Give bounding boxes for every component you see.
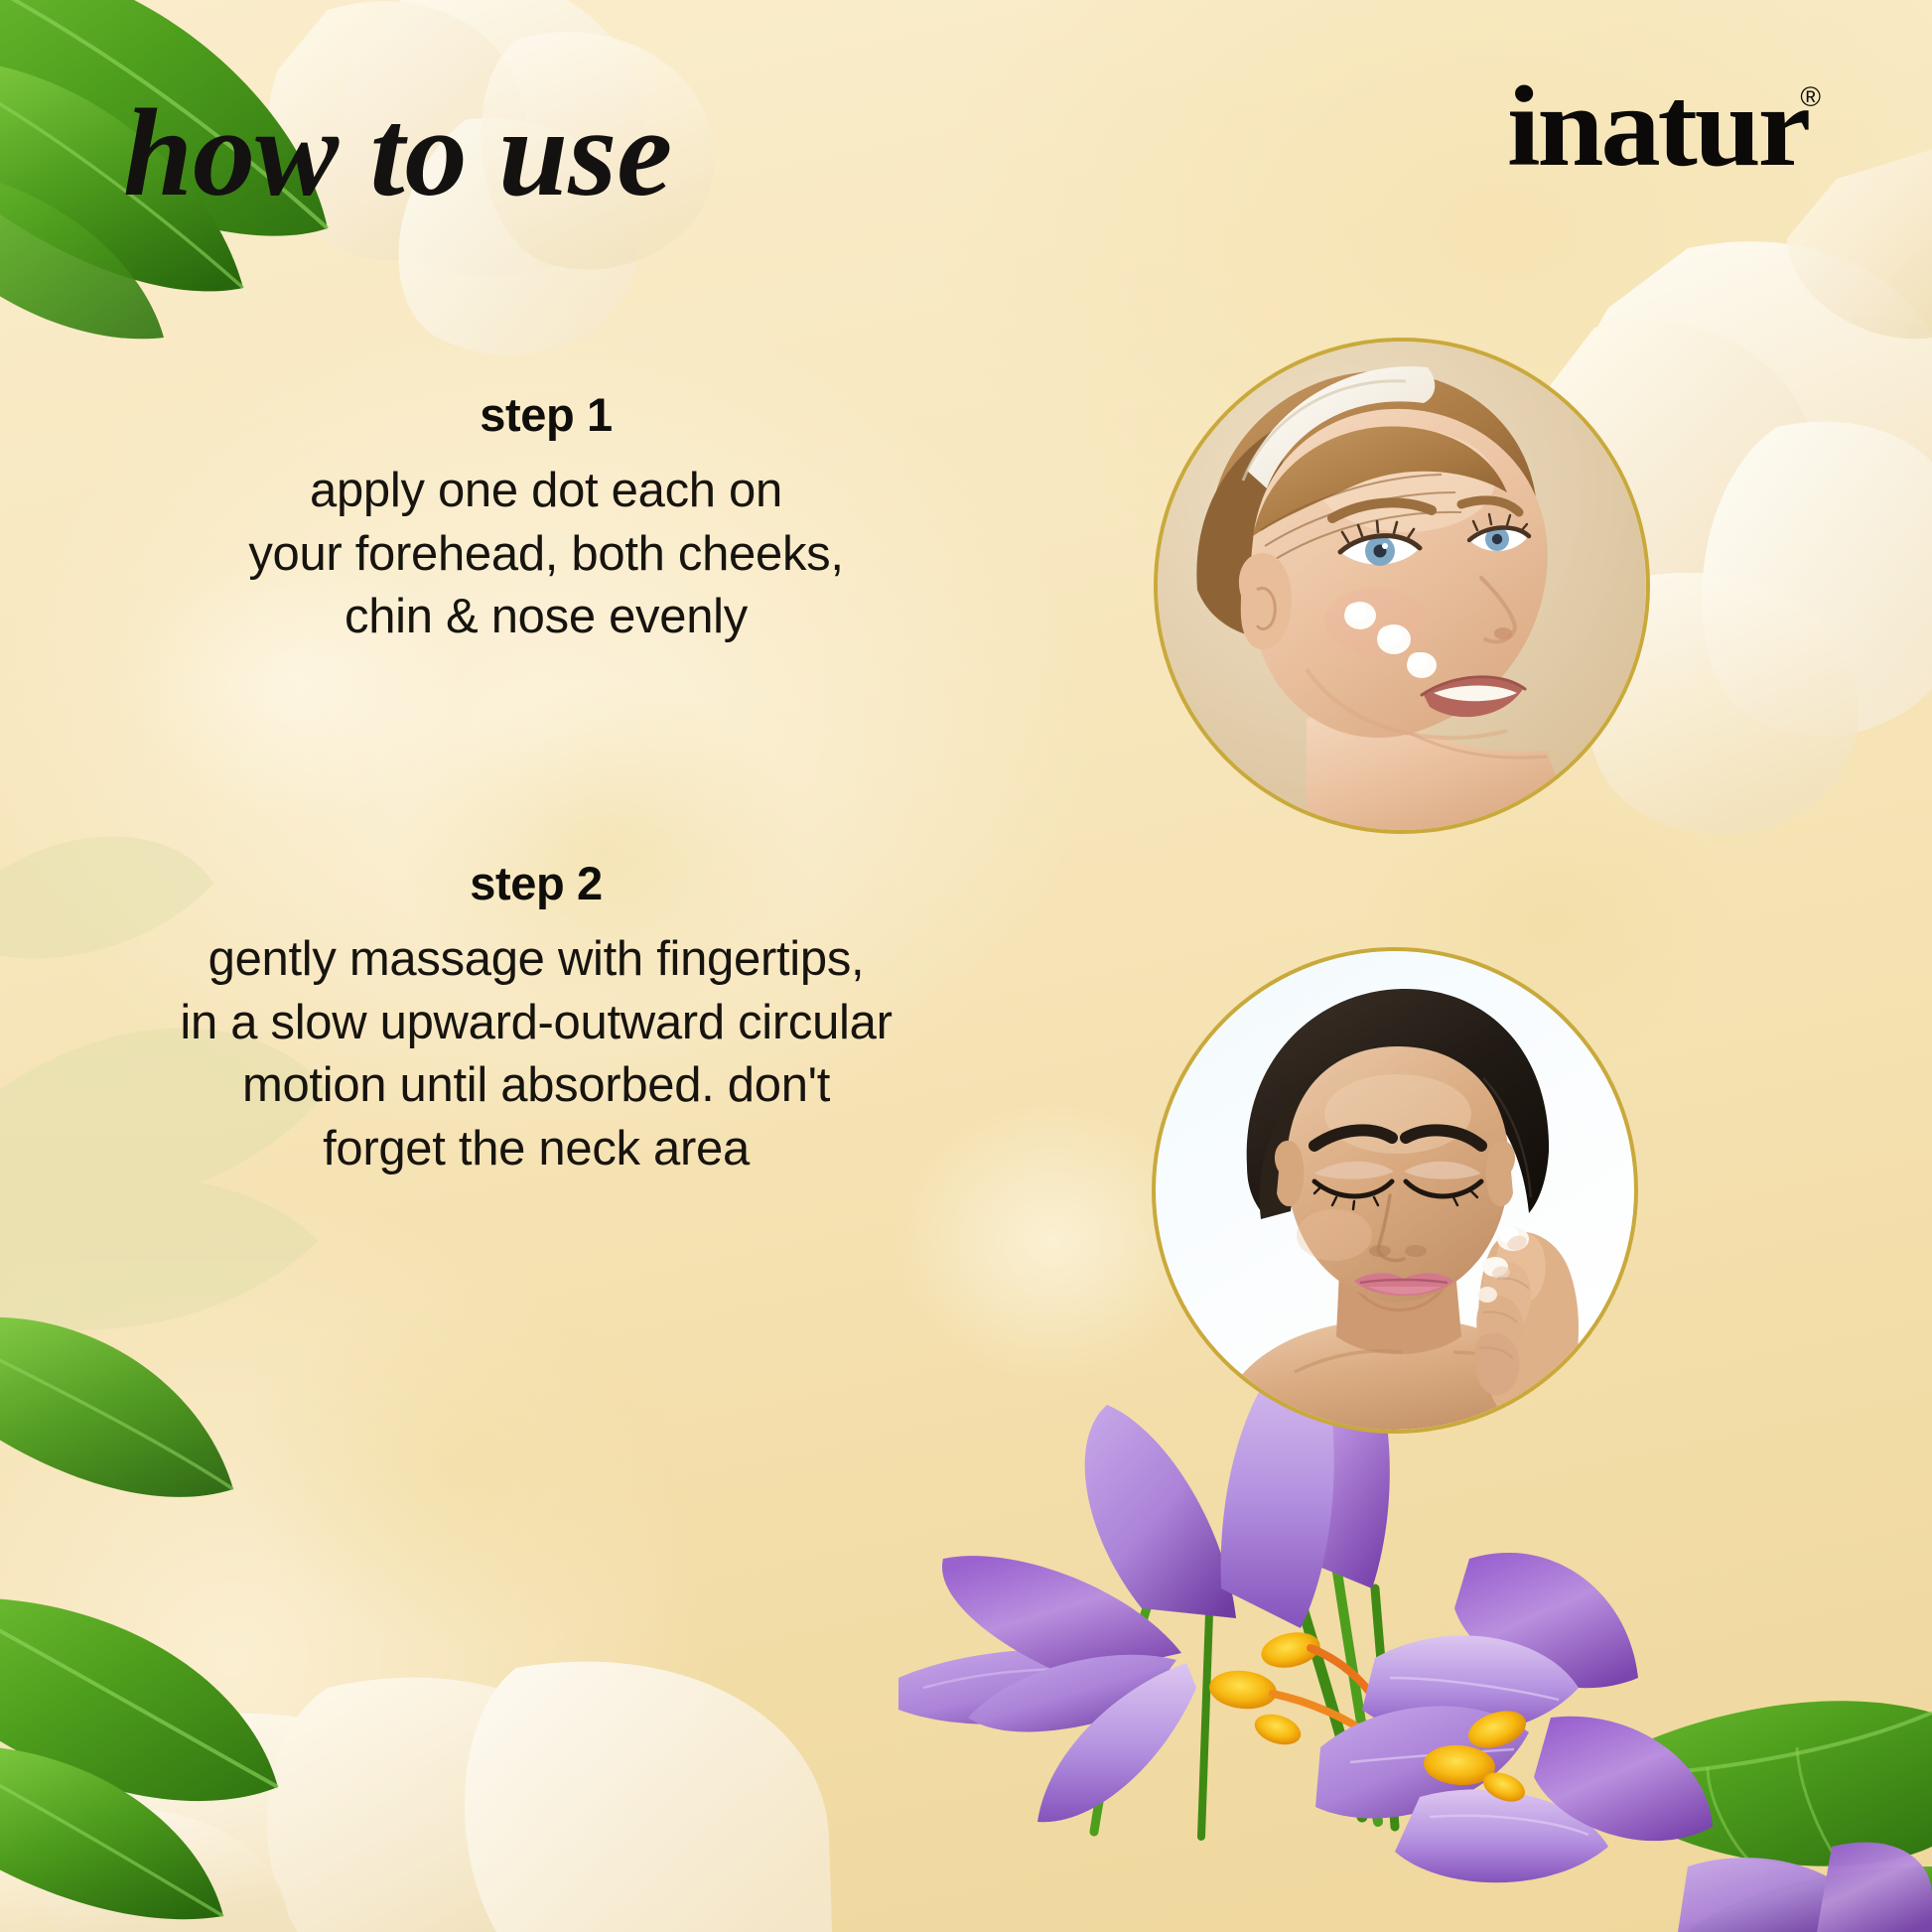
step-2-line-4: forget the neck area xyxy=(20,1118,1052,1181)
step-2-line-1: gently massage with fingertips, xyxy=(20,928,1052,992)
step-1-line-3: chin & nose evenly xyxy=(40,586,1052,649)
page-title: how to use xyxy=(117,77,832,226)
step-2-photo xyxy=(1156,951,1634,1430)
step-2-title: step 2 xyxy=(20,856,1052,910)
step-1-photo xyxy=(1158,342,1646,830)
step-2-line-2: in a slow upward-outward circular xyxy=(20,992,1052,1055)
brand-logo: inatur ® xyxy=(1507,69,1821,185)
step-1-line-2: your forehead, both cheeks, xyxy=(40,523,1052,587)
step-2-body: gently massage with fingertips, in a slo… xyxy=(20,928,1052,1181)
step-1-line-1: apply one dot each on xyxy=(40,460,1052,523)
step-1-block: step 1 apply one dot each on your forehe… xyxy=(40,387,1052,649)
brand-logo-wordmark: inatur xyxy=(1507,69,1808,185)
page-title-text: how to use xyxy=(123,84,672,222)
step-1-body: apply one dot each on your forehead, bot… xyxy=(40,460,1052,649)
step-2-block: step 2 gently massage with fingertips, i… xyxy=(20,856,1052,1181)
step-2-line-3: motion until absorbed. don't xyxy=(20,1054,1052,1118)
step-1-title: step 1 xyxy=(40,387,1052,442)
